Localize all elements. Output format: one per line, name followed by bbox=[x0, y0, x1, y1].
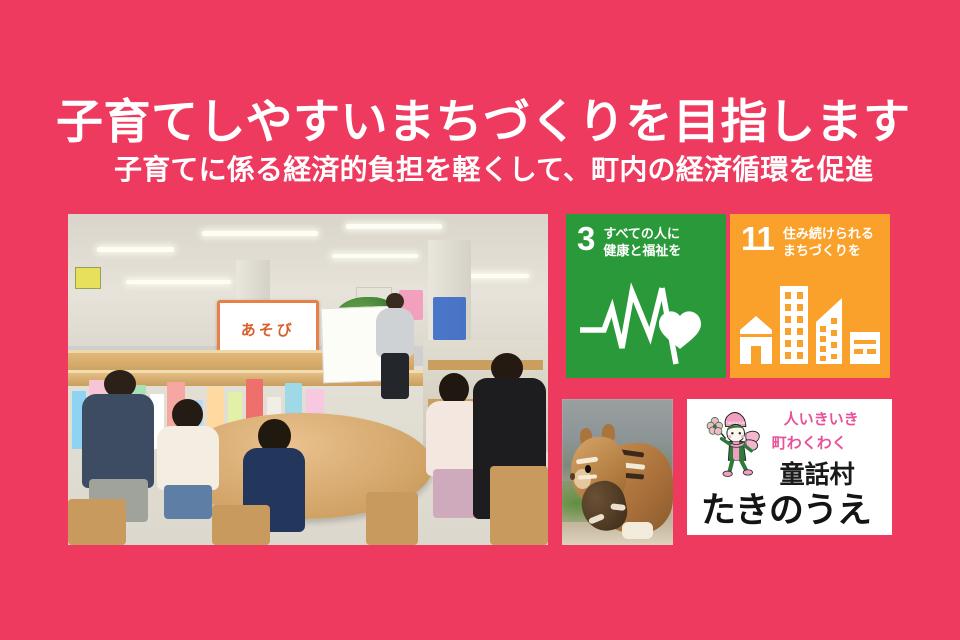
chipmunk-paw bbox=[622, 522, 653, 540]
city-buildings-icon bbox=[730, 278, 890, 370]
chair bbox=[68, 499, 126, 545]
library-photo: あそび bbox=[68, 214, 548, 545]
sdg-goal-11-panel: 11 住み続けられる まちづくりを bbox=[730, 214, 890, 378]
standing-adult bbox=[366, 293, 424, 399]
page-subtitle: 子育てに係る経済的負担を軽くして、町内の経済循環を促進 bbox=[114, 155, 914, 186]
town-logo-card: TAKINOUE bbox=[687, 399, 892, 535]
ceiling-light bbox=[202, 231, 317, 236]
sdg-goal-3-text: すべての人に 健康と福祉を bbox=[603, 224, 681, 259]
chair bbox=[366, 492, 419, 545]
logo-town-name: たきのうえ bbox=[701, 482, 871, 533]
logo-tagline-1: 人いきいき bbox=[784, 408, 859, 429]
sdg-goal-3-panel: 3 すべての人に 健康と福祉を bbox=[566, 214, 726, 378]
exit-sign bbox=[75, 267, 101, 289]
wall-poster bbox=[433, 297, 467, 340]
seated-child-1 bbox=[154, 399, 221, 518]
sdg-goal-11-text: 住み続けられる まちづくりを bbox=[783, 224, 874, 259]
slide-root: 子育てしやすいまちづくりを目指します 子育てに係る経済的負担を軽くして、町内の経… bbox=[0, 0, 960, 640]
page-title: 子育てしやすいまちづくりを目指します bbox=[56, 98, 906, 147]
chipmunk-photo bbox=[562, 399, 673, 545]
sdg-goal-3-header: 3 すべての人に 健康と福祉を bbox=[566, 214, 726, 259]
asobi-sign-text: あそび bbox=[241, 319, 295, 340]
ceiling-light bbox=[97, 247, 174, 252]
sdg-goal-3-line1: すべての人に bbox=[603, 226, 681, 243]
sdg-goal-3-line2: 健康と福祉を bbox=[603, 243, 681, 260]
ceiling-light bbox=[346, 224, 442, 229]
ceiling-light bbox=[332, 254, 418, 258]
heartbeat-heart-icon bbox=[566, 278, 726, 370]
sdg-goal-11-number: 11 bbox=[741, 224, 774, 254]
logo-tagline-2: 町わくわく bbox=[772, 432, 847, 453]
sdg-goal-3-number: 3 bbox=[577, 224, 594, 254]
sdg-goal-11-header: 11 住み続けられる まちづくりを bbox=[730, 214, 890, 259]
sdg-goal-11-line2: まちづくりを bbox=[783, 243, 874, 260]
sdg-goal-11-line1: 住み続けられる bbox=[783, 226, 874, 243]
chair bbox=[212, 505, 270, 545]
ceiling-light bbox=[126, 280, 232, 284]
fairy-mascot-icon: TAKINOUE bbox=[697, 409, 776, 483]
chair bbox=[490, 466, 548, 545]
